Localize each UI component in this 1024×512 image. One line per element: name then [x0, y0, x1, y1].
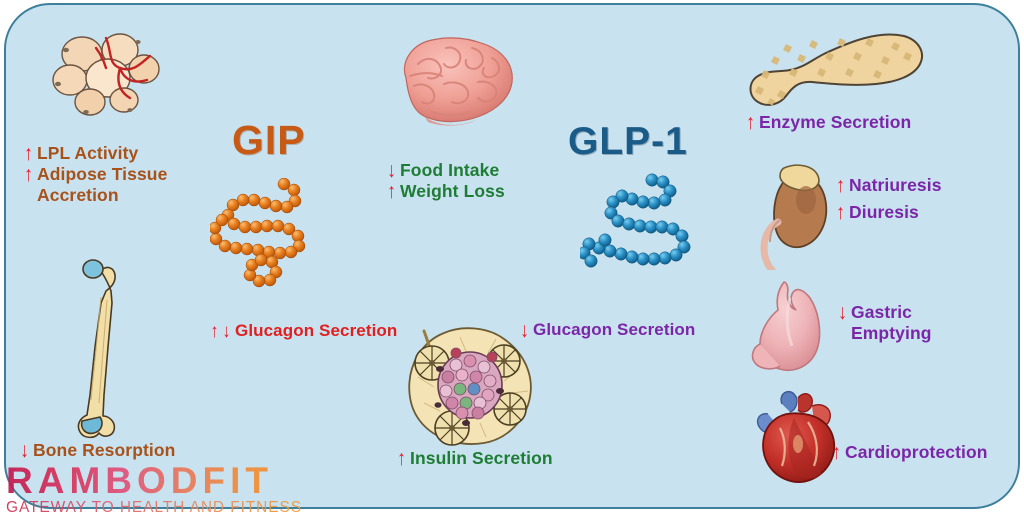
brain-effect-line-1: Food Intake [400, 160, 499, 181]
arrow-down-icon: ↓ [386, 160, 397, 181]
arrow-up-icon: ↑ [745, 112, 756, 133]
adipose-effect-line-1: LPL Activity [37, 143, 138, 164]
heart-effect-label: ↑ Cardioprotection [830, 442, 988, 463]
arrow-up-icon: ↑ [386, 181, 397, 202]
kidney-effect-line-2: Diuresis [849, 199, 919, 226]
brain-effect-label: ↓ Food Intake ↑ Weight Loss [385, 160, 505, 202]
pancreas-effect-line-1: Enzyme Secretion [759, 112, 911, 133]
kidney-icon [748, 160, 848, 270]
arrow-up-icon: ↑ [835, 202, 846, 223]
stomach-effect-label: ↓ Gastric Emptying [836, 302, 932, 344]
adipose-effect-label: ↑ LPL Activity ↑ Adipose Tissue Accretio… [22, 143, 167, 206]
glucagon-gip-effect-line-1: Glucagon Secretion [235, 321, 397, 341]
arrow-down-icon: ↓ [837, 302, 848, 323]
glp1-peptide-chain-icon [580, 172, 705, 277]
arrow-up-icon: ↑ [23, 143, 34, 164]
arrow-up-icon: ↑ [209, 322, 220, 341]
heart-effect-line-1: Cardioprotection [845, 442, 988, 463]
islet-effect-line-1: Insulin Secretion [410, 448, 553, 469]
bone-effect-label: ↓ Bone Resorption [18, 440, 175, 461]
brain-icon [388, 28, 518, 133]
brain-effect-line-2: Weight Loss [400, 181, 505, 202]
pancreas-effect-label: ↑ Enzyme Secretion [744, 112, 911, 133]
arrow-up-icon: ↑ [396, 448, 407, 469]
arrow-down-icon: ↓ [221, 322, 232, 341]
islet-effect-label: ↑ Insulin Secretion [395, 448, 553, 469]
arrow-down-icon: ↓ [19, 440, 30, 461]
stomach-effect-line-2: Emptying [851, 323, 932, 344]
pancreatic-islet-icon [400, 325, 555, 450]
watermark-tagline: GATEWAY TO HEALTH AND FITNESS [6, 500, 306, 512]
arrow-up-icon: ↑ [831, 442, 842, 463]
watermark: RAMBODFIT GATEWAY TO HEALTH AND FITNESS [6, 462, 306, 512]
arrow-up-icon: ↑ [835, 175, 846, 196]
kidney-effect-label: ↑ Natriuresis ↑ Diuresis [834, 172, 942, 226]
pancreas-icon [736, 26, 931, 118]
adipose-effect-line-2: Adipose Tissue [37, 164, 167, 185]
figure-canvas: ↑ LPL Activity ↑ Adipose Tissue Accretio… [0, 0, 1024, 512]
gip-peptide-chain-icon [210, 178, 330, 288]
glp1-title: GLP-1 [568, 120, 688, 164]
gip-title: GIP [232, 117, 306, 164]
watermark-brand: RAMBODFIT [6, 462, 306, 499]
stomach-icon [740, 278, 845, 378]
kidney-effect-line-1: Natriuresis [849, 172, 942, 199]
glucagon-glp1-effect-line-1: Glucagon Secretion [533, 320, 695, 340]
adipose-tissue-icon [46, 28, 176, 118]
bone-effect-line-1: Bone Resorption [33, 440, 175, 461]
glucagon-gip-effect-label: ↑ ↓ Glucagon Secretion [208, 321, 397, 341]
arrow-up-icon: ↑ [23, 164, 34, 185]
adipose-effect-line-3: Accretion [37, 185, 119, 206]
stomach-effect-line-1: Gastric [851, 302, 912, 323]
bone-icon [62, 255, 132, 445]
